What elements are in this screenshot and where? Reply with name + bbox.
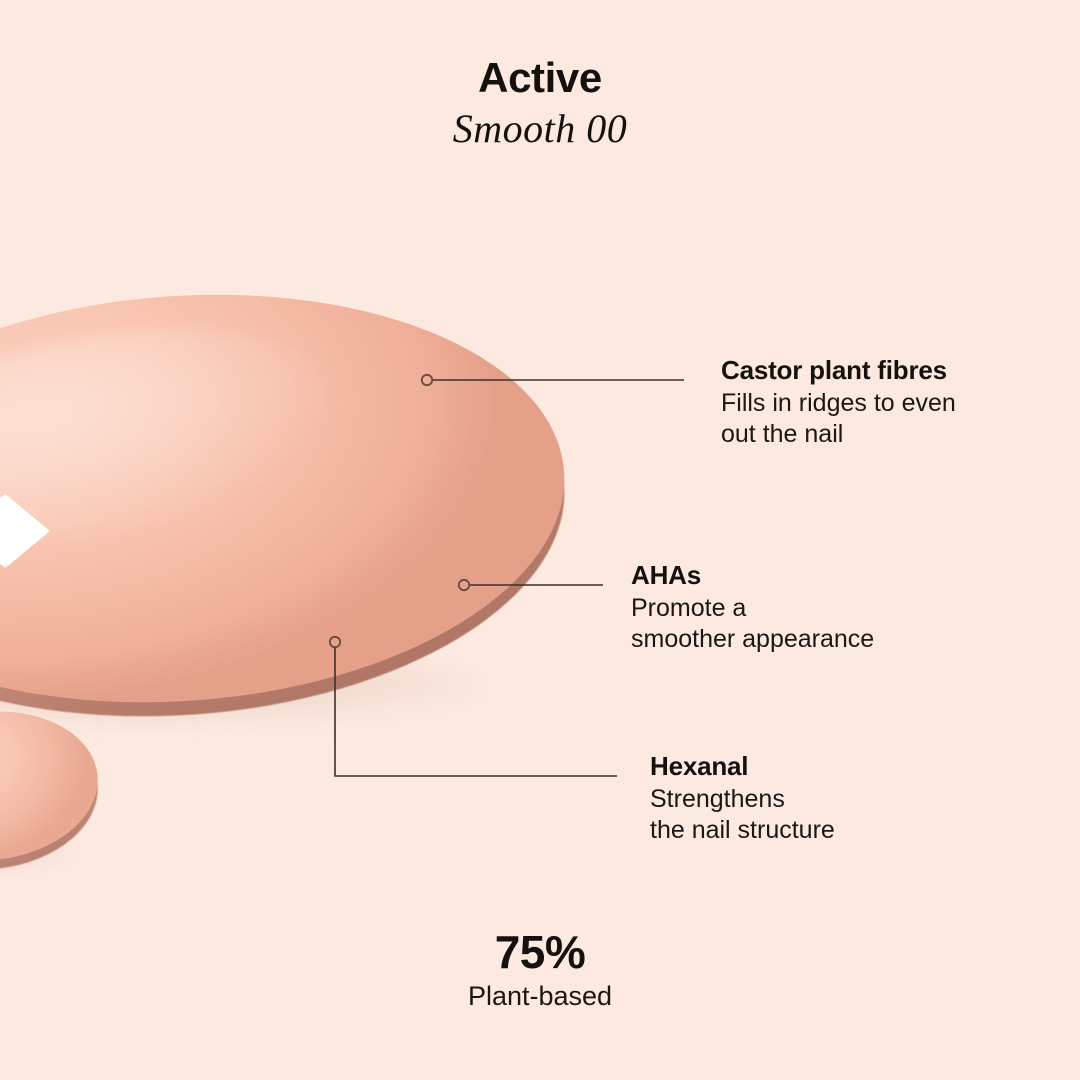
header: Active Smooth 00 xyxy=(0,56,1080,152)
plant-based-percentage: 75% xyxy=(0,928,1080,976)
callout-ahas: AHAs Promote a smoother appearance xyxy=(631,561,874,656)
large-droplet-illustration xyxy=(0,296,565,701)
page-subtitle: Smooth 00 xyxy=(0,106,1080,152)
small-droplet-illustration xyxy=(0,712,98,860)
callout-title: AHAs xyxy=(631,561,874,591)
callout-hexanal: Hexanal Strengthens the nail structure xyxy=(650,752,835,847)
callout-body: Strengthens the nail structure xyxy=(650,784,835,847)
footer: 75% Plant-based xyxy=(0,928,1080,1013)
callout-body: Promote a smoother appearance xyxy=(631,593,874,656)
page-title: Active xyxy=(0,56,1080,100)
callout-body: Fills in ridges to even out the nail xyxy=(721,388,956,451)
callout-title: Hexanal xyxy=(650,752,835,782)
callout-title: Castor plant fibres xyxy=(721,356,956,386)
callout-castor-plant-fibres: Castor plant fibres Fills in ridges to e… xyxy=(721,356,956,451)
plant-based-label: Plant-based xyxy=(0,980,1080,1012)
infographic-canvas: Active Smooth 00 Castor plant xyxy=(0,0,1080,1080)
